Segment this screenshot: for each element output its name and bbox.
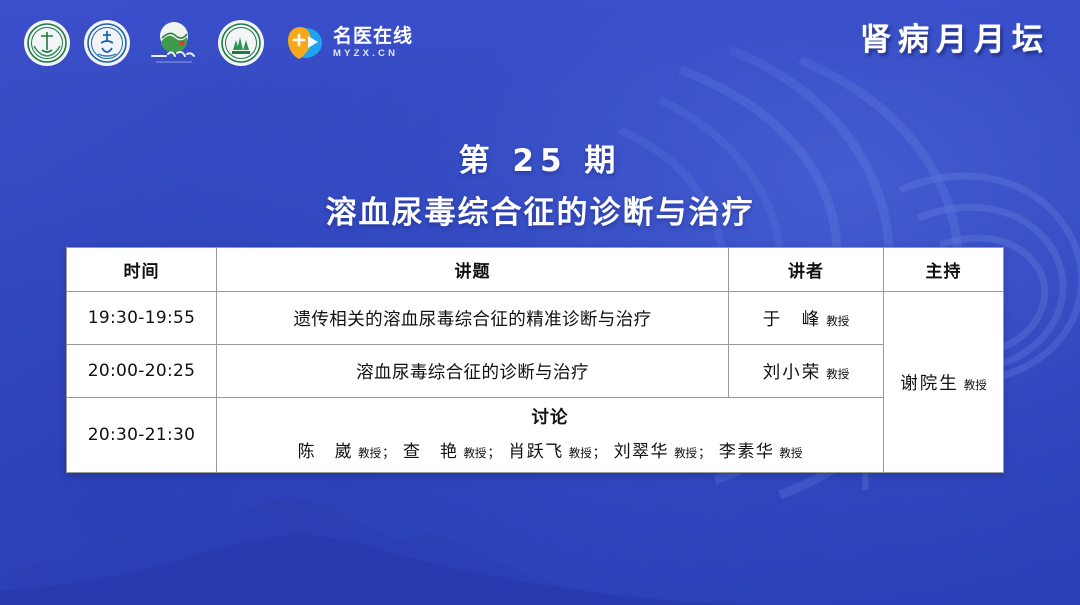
participant-name: 肖跃飞 — [508, 442, 564, 462]
participant-separator: ； — [593, 446, 606, 461]
table-row: 20:00-20:25 溶血尿毒综合征的诊断与治疗 刘小荣教授 — [67, 345, 1004, 398]
speaker-name: 于 峰 — [763, 310, 822, 330]
issue-number: 第 25 期 — [0, 142, 1080, 181]
column-header-topic: 讲题 — [217, 248, 729, 292]
participant-separator: ； — [698, 446, 711, 461]
column-header-host: 主持 — [884, 248, 1004, 292]
schedule-table-container: 时间 讲题 讲者 主持 19:30-19:55 遗传相关的溶血尿毒综合征的精准诊… — [66, 247, 1003, 473]
partner-logo-strip: 名医在线 MYZX.CN — [24, 19, 413, 67]
participant-rank: 教授 — [358, 446, 381, 460]
discussion-label: 讨论 — [217, 404, 883, 429]
hospital-logo-3 — [144, 19, 204, 67]
participant-rank: 教授 — [463, 446, 486, 460]
participant-name: 查 艳 — [403, 442, 459, 462]
hospital-logo-1 — [24, 20, 70, 66]
speaker-rank: 教授 — [826, 367, 849, 381]
slide-header: 名医在线 MYZX.CN 肾病月月坛 — [0, 0, 1080, 86]
participant-rank: 教授 — [674, 446, 697, 460]
brand-title: 肾病月月坛 — [860, 14, 1050, 59]
session-title: 溶血尿毒综合征的诊断与治疗 — [0, 187, 1080, 232]
column-header-speaker: 讲者 — [729, 248, 884, 292]
row-topic: 遗传相关的溶血尿毒综合征的精准诊断与治疗 — [217, 292, 729, 345]
participant-rank: 教授 — [779, 446, 802, 460]
participant-separator: ； — [382, 446, 395, 461]
partner-name-cn: 名医在线 — [333, 27, 413, 46]
partner-logo-myzx: 名医在线 MYZX.CN — [286, 25, 413, 61]
hospital-logo-2 — [84, 20, 130, 66]
speaker-name: 刘小荣 — [763, 363, 822, 383]
participant-name: 李素华 — [719, 442, 775, 462]
row-time: 20:00-20:25 — [67, 345, 217, 398]
column-header-time: 时间 — [67, 248, 217, 292]
participant-rank: 教授 — [569, 446, 592, 460]
hospital-logo-4 — [218, 20, 264, 66]
discussion-participants: 陈 崴教授； 查 艳教授； 肖跃飞教授； 刘翠华教授； 李素华教授 — [217, 437, 883, 462]
row-time: 19:30-19:55 — [67, 292, 217, 345]
row-topic: 溶血尿毒综合征的诊断与治疗 — [217, 345, 729, 398]
speaker-rank: 教授 — [826, 314, 849, 328]
host-rank: 教授 — [964, 378, 987, 392]
participant-separator: ； — [487, 446, 500, 461]
table-row: 19:30-19:55 遗传相关的溶血尿毒综合征的精准诊断与治疗 于 峰教授 谢… — [67, 292, 1004, 345]
discussion-cell: 讨论 陈 崴教授； 查 艳教授； 肖跃飞教授； 刘翠华教授； 李素华教授 — [217, 398, 884, 473]
participant-name: 刘翠华 — [614, 442, 670, 462]
row-speaker: 于 峰教授 — [729, 292, 884, 345]
slide-root: 名医在线 MYZX.CN 肾病月月坛 第 25 期 溶血尿毒综合征的诊断与治疗 … — [0, 0, 1080, 605]
play-plus-icon — [286, 25, 326, 61]
participant-name: 陈 崴 — [298, 442, 354, 462]
host-name: 谢院生 — [900, 374, 959, 394]
row-speaker: 刘小荣教授 — [729, 345, 884, 398]
host-cell: 谢院生教授 — [884, 292, 1004, 473]
partner-name-en: MYZX.CN — [333, 49, 413, 59]
title-block: 第 25 期 溶血尿毒综合征的诊断与治疗 — [0, 142, 1080, 232]
discussion-time: 20:30-21:30 — [67, 398, 217, 473]
table-row-discussion: 20:30-21:30 讨论 陈 崴教授； 查 艳教授； 肖跃飞教授； 刘翠华教… — [67, 398, 1004, 473]
table-header-row: 时间 讲题 讲者 主持 — [67, 248, 1004, 292]
schedule-table: 时间 讲题 讲者 主持 19:30-19:55 遗传相关的溶血尿毒综合征的精准诊… — [66, 247, 1004, 473]
